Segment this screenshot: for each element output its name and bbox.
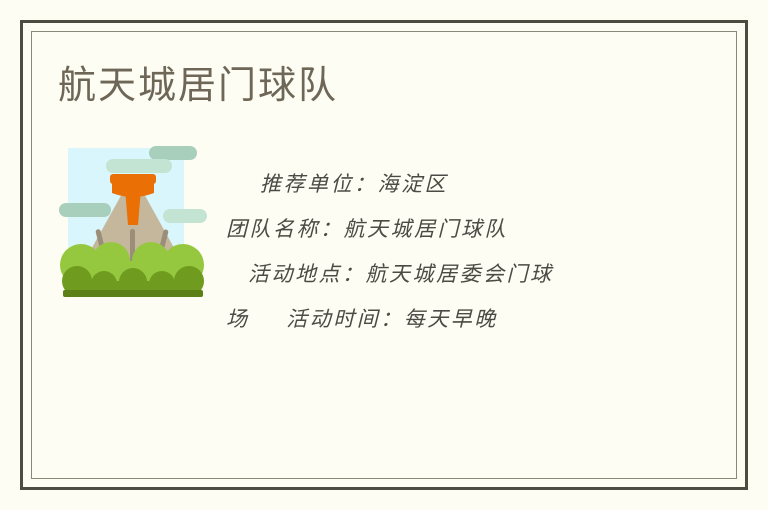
detail-line-activity-place: 活动地点：航天城居委会门球 [226, 252, 656, 297]
poster-page: 航天城居门球队 [0, 0, 768, 510]
cloud-mid-right [163, 209, 207, 223]
cloud-top-left [106, 159, 172, 173]
page-title: 航天城居门球队 [58, 60, 338, 110]
cloud-mid-left [59, 203, 111, 217]
detail-line-team-name: 团队名称：航天城居门球队 [226, 207, 656, 252]
cloud-top-right [149, 146, 197, 160]
crater-rim [110, 174, 156, 184]
volcano-icon [59, 141, 207, 299]
details-text-block: 推荐单位：海淀区 团队名称：航天城居门球队 活动地点：航天城居委会门球 场 活动… [226, 162, 656, 342]
volcano-illustration [59, 141, 207, 299]
detail-line-recommending-unit: 推荐单位：海淀区 [226, 162, 656, 207]
detail-line-activity-time: 场 活动时间：每天早晚 [226, 297, 656, 342]
ground-strip [63, 290, 203, 297]
